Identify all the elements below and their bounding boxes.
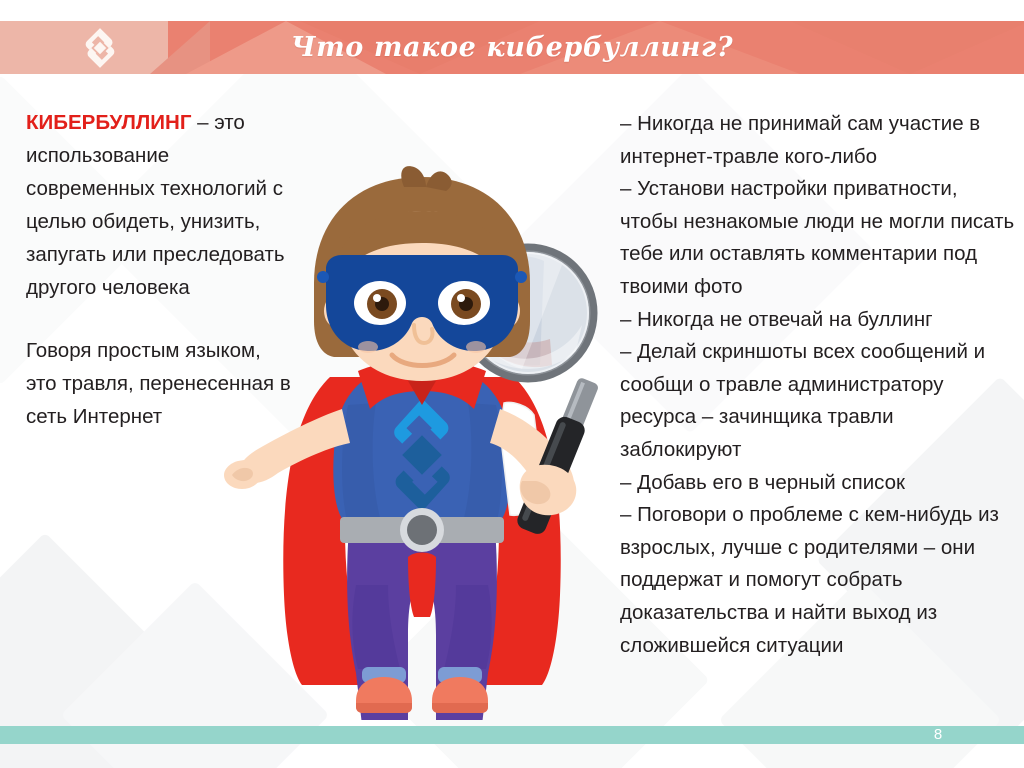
footer-bar — [0, 726, 1024, 744]
cape-between-legs — [408, 553, 436, 618]
belt-buckle-center — [407, 515, 437, 545]
tip-item: – Никогда не отвечай на буллинг — [620, 304, 1016, 337]
keyword-cyberbullying: КИБЕРБУЛЛИНГ — [26, 111, 191, 134]
tip-item: – Делай скриншоты всех сообщений и сообщ… — [620, 336, 1016, 466]
right-cheek — [466, 341, 486, 353]
left-shoe-sole — [356, 703, 412, 713]
tip-item: – Добавь его в черный список — [620, 467, 1016, 500]
right-eye-glint — [457, 294, 465, 302]
simple-language-paragraph: Говоря простым языком, это травля, перен… — [26, 334, 294, 433]
right-text-column: – Никогда не принимай сам участие в инте… — [620, 108, 1016, 662]
right-shoe-sole — [432, 703, 488, 713]
tip-item: – Установи настройки приватности, чтобы … — [620, 173, 1016, 303]
left-text-column: КИБЕРБУЛЛИНГ – это использование совреме… — [26, 106, 294, 433]
definition-rest: – это использование современных технолог… — [26, 111, 285, 299]
mask-strap-right — [515, 271, 527, 283]
left-cheek — [358, 341, 378, 353]
definition-paragraph: КИБЕРБУЛЛИНГ – это использование совреме… — [26, 106, 294, 304]
slide-root: Что такое кибербуллинг? КИБЕРБУЛЛИНГ – э… — [0, 0, 1024, 768]
mask-strap-left — [317, 271, 329, 283]
tip-item: – Никогда не принимай сам участие в инте… — [620, 108, 1016, 173]
page-number: 8 — [920, 723, 956, 747]
tip-item: – Поговори о проблеме с кем-нибудь из вз… — [620, 499, 1016, 662]
left-eye-glint — [373, 294, 381, 302]
interlocking-diamond-logo-icon — [78, 26, 122, 70]
hair-tuft-left — [401, 166, 426, 187]
page-title: Что такое кибербуллинг? — [0, 21, 1024, 74]
